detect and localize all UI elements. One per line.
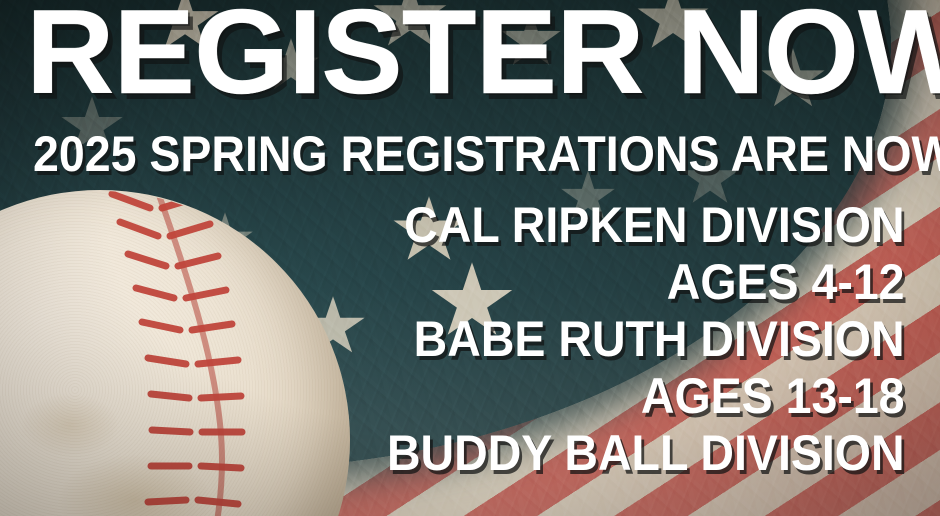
register-now-banner: REGISTER NOW 2025 SPRING REGISTRATIONS A… <box>0 0 940 516</box>
page-title: REGISTER NOW <box>26 0 936 108</box>
division-line: AGES 13-18 <box>387 369 905 423</box>
banner-text-layer: REGISTER NOW 2025 SPRING REGISTRATIONS A… <box>0 0 940 516</box>
division-line: BUDDY BALL DIVISION <box>387 426 905 480</box>
division-list: CAL RIPKEN DIVISION AGES 4-12 BABE RUTH … <box>348 198 905 483</box>
division-line: CAL RIPKEN DIVISION <box>387 198 905 252</box>
division-line: AGES 4-12 <box>387 255 905 309</box>
division-line: BABE RUTH DIVISION <box>387 312 905 366</box>
subheadline: 2025 SPRING REGISTRATIONS ARE NOW OPEN <box>33 128 940 180</box>
